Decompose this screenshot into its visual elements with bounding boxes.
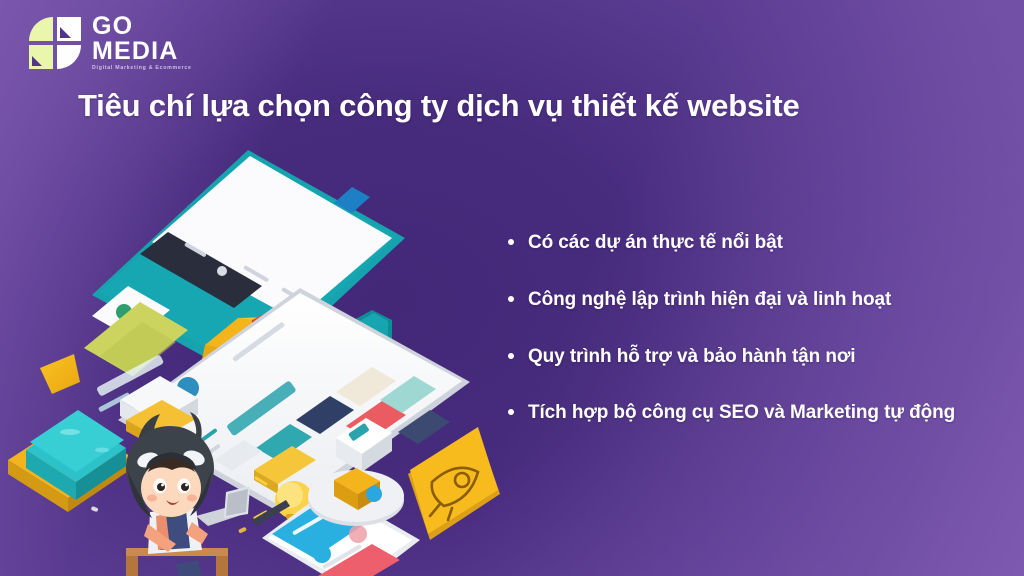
logo-line-go: GO: [92, 14, 192, 39]
page-title: Tiêu chí lựa chọn công ty dịch vụ thiết …: [78, 88, 968, 124]
go-media-square-logo-icon: [27, 15, 83, 71]
criteria-bullet-list: Có các dự án thực tế nổi bật Công nghệ l…: [502, 228, 1002, 429]
bullet-dot-icon: [508, 409, 514, 415]
bullet-dot-icon: [508, 239, 514, 245]
bullet-dot-icon: [508, 296, 514, 302]
isometric-workspace-illustration: [0, 120, 500, 520]
brand-logo[interactable]: GO MEDIA Digital Marketing & Ecommerce: [27, 14, 192, 71]
logo-wordmark: GO MEDIA Digital Marketing & Ecommerce: [92, 14, 192, 71]
list-item-label: Quy trình hỗ trợ và bảo hành tận nơi: [528, 342, 855, 373]
bullet-dot-icon: [508, 353, 514, 359]
list-item-label: Có các dự án thực tế nổi bật: [528, 228, 783, 259]
logo-line-media: MEDIA: [92, 39, 192, 64]
list-item: Quy trình hỗ trợ và bảo hành tận nơi: [502, 342, 1002, 373]
list-item: Tích hợp bộ công cụ SEO và Marketing tự …: [502, 398, 1002, 429]
list-item-label: Công nghệ lập trình hiện đại và linh hoạ…: [528, 285, 891, 316]
list-item-label: Tích hợp bộ công cụ SEO và Marketing tự …: [528, 398, 955, 429]
list-item: Có các dự án thực tế nổi bật: [502, 228, 1002, 259]
logo-tagline: Digital Marketing & Ecommerce: [92, 66, 192, 71]
teal-stacked-books: [8, 410, 130, 512]
yellow-rocket-card: [408, 427, 500, 540]
list-item: Công nghệ lập trình hiện đại và linh hoạ…: [502, 285, 1002, 316]
slide-canvas: GO MEDIA Digital Marketing & Ecommerce T…: [0, 0, 1024, 576]
